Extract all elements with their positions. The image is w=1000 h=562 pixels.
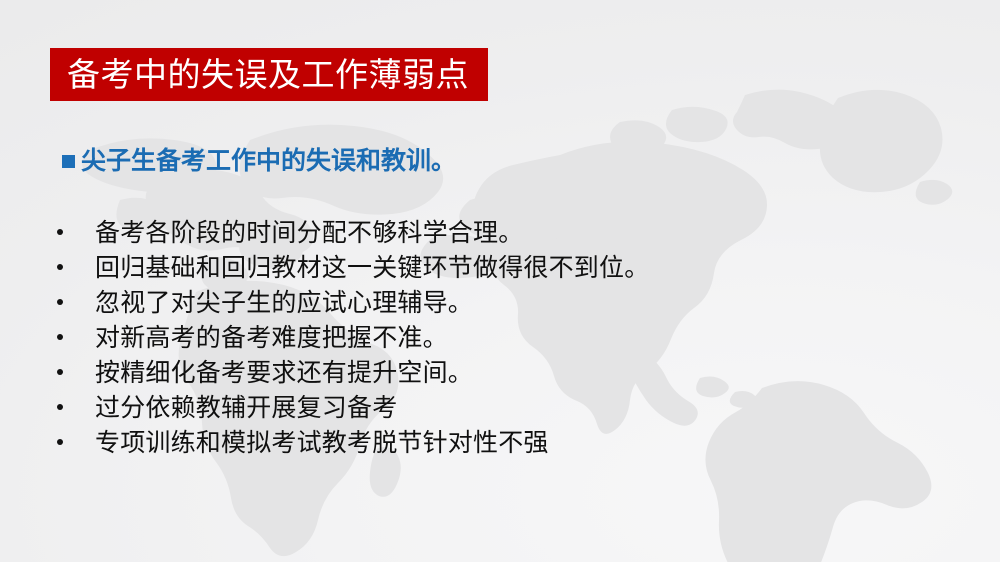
list-item: 按精细化备考要求还有提升空间。 (57, 355, 649, 390)
list-item-label: 过分依赖教辅开展复习备考 (95, 390, 397, 425)
dot-bullet-icon (57, 369, 63, 375)
dot-bullet-icon (57, 229, 63, 235)
slide-title-banner: 备考中的失误及工作薄弱点 (50, 48, 488, 101)
list-item: 备考各阶段的时间分配不够科学合理。 (57, 215, 649, 250)
presentation-slide: 备考中的失误及工作薄弱点 尖子生备考工作中的失误和教训。 备考各阶段的时间分配不… (0, 0, 1000, 562)
dot-bullet-icon (57, 264, 63, 270)
subheading-label: 尖子生备考工作中的失误和教训。 (81, 147, 456, 175)
list-item: 忽视了对尖子生的应试心理辅导。 (57, 285, 649, 320)
list-item-label: 专项训练和模拟考试教考脱节针对性不强 (95, 425, 549, 460)
list-item-label: 备考各阶段的时间分配不够科学合理。 (95, 215, 523, 250)
list-item: 专项训练和模拟考试教考脱节针对性不强 (57, 425, 649, 460)
section-subheading: 尖子生备考工作中的失误和教训。 (62, 147, 456, 175)
list-item: 对新高考的备考难度把握不准。 (57, 320, 649, 355)
dot-bullet-icon (57, 439, 63, 445)
square-bullet-icon (62, 155, 75, 168)
list-item: 回归基础和回归教材这一关键环节做得很不到位。 (57, 250, 649, 285)
page-title: 备考中的失误及工作薄弱点 (67, 58, 469, 91)
list-item-label: 回归基础和回归教材这一关键环节做得很不到位。 (95, 250, 649, 285)
bullet-list: 备考各阶段的时间分配不够科学合理。 回归基础和回归教材这一关键环节做得很不到位。… (57, 215, 649, 460)
list-item-label: 忽视了对尖子生的应试心理辅导。 (95, 285, 473, 320)
dot-bullet-icon (57, 334, 63, 340)
list-item-label: 按精细化备考要求还有提升空间。 (95, 355, 473, 390)
dot-bullet-icon (57, 299, 63, 305)
list-item-label: 对新高考的备考难度把握不准。 (95, 320, 448, 355)
list-item: 过分依赖教辅开展复习备考 (57, 390, 649, 425)
dot-bullet-icon (57, 404, 63, 410)
